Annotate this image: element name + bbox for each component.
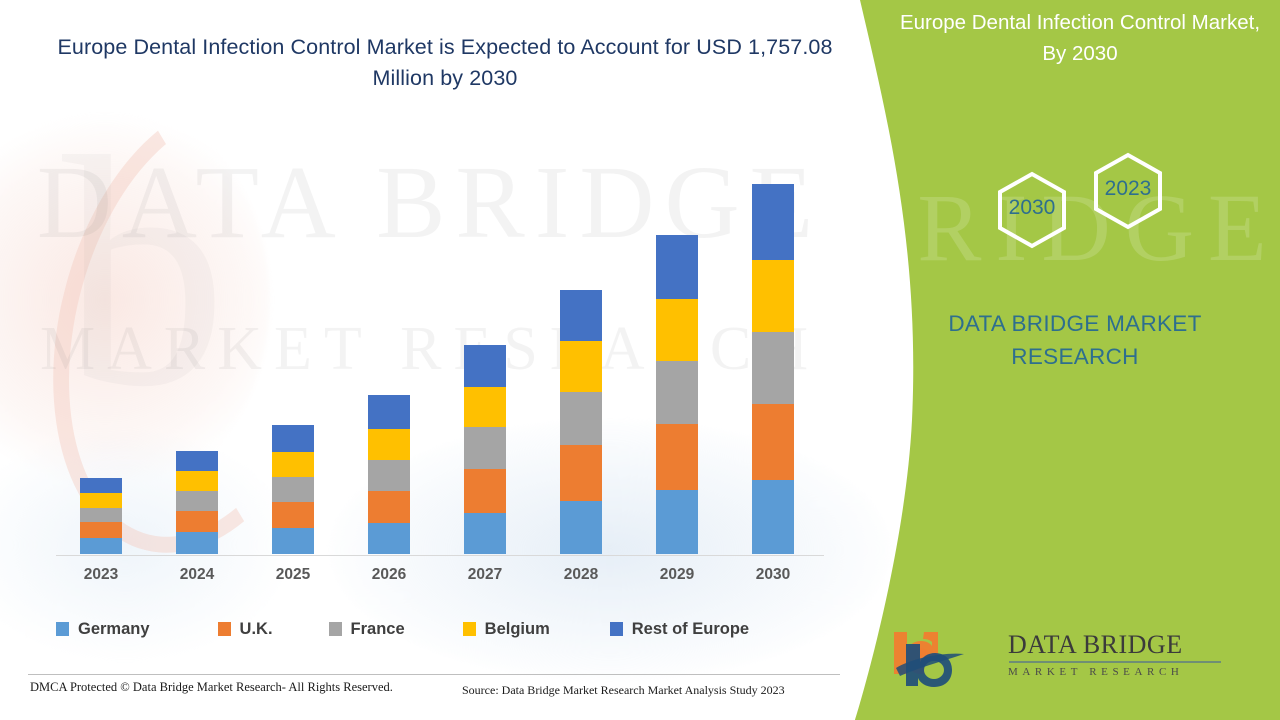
footer-divider <box>28 674 840 675</box>
x-axis-label-2023: 2023 <box>61 566 141 584</box>
bar-segment-rest-of-europe <box>80 478 122 493</box>
x-axis-label-2030: 2030 <box>733 566 813 584</box>
legend-swatch-icon <box>463 622 476 636</box>
bar-segment-france <box>80 508 122 522</box>
copyright-notice: DMCA Protected © Data Bridge Market Rese… <box>30 680 393 695</box>
legend-label: Germany <box>78 620 150 639</box>
legend-item-u-k[interactable]: U.K. <box>218 620 273 639</box>
bar-segment-belgium <box>464 387 506 427</box>
legend-label: U.K. <box>240 620 273 639</box>
bar-segment-germany <box>368 523 410 554</box>
bar-segment-rest-of-europe <box>560 290 602 341</box>
logo-sub-text: MARKET RESEARCH <box>1008 667 1221 678</box>
bar-segment-rest-of-europe <box>176 451 218 471</box>
bar-segment-belgium <box>656 299 698 361</box>
bar-column-2029 <box>656 235 698 554</box>
x-axis-label-2027: 2027 <box>445 566 525 584</box>
x-axis-label-2026: 2026 <box>349 566 429 584</box>
logo-divider <box>1009 661 1221 663</box>
bar-segment-germany <box>752 480 794 554</box>
legend-swatch-icon <box>610 622 623 636</box>
bar-segment-france <box>272 477 314 502</box>
source-note: Source: Data Bridge Market Research Mark… <box>462 683 785 698</box>
bar-segment-u-k <box>80 522 122 538</box>
legend-item-belgium[interactable]: Belgium <box>463 620 550 639</box>
legend-item-germany[interactable]: Germany <box>56 620 150 639</box>
bar-segment-germany <box>560 501 602 554</box>
bar-segment-belgium <box>752 260 794 332</box>
x-axis-label-2029: 2029 <box>637 566 717 584</box>
legend-swatch-icon <box>329 622 342 636</box>
bar-segment-u-k <box>272 502 314 528</box>
bar-column-2024 <box>176 451 218 554</box>
bar-segment-rest-of-europe <box>656 235 698 299</box>
infographic-canvas: b DATA BRIDGE MARKET RESEARCH Europe Den… <box>0 0 1280 720</box>
logo-wordmark: DATA BRIDGE MARKET RESEARCH <box>1008 632 1221 678</box>
bar-segment-u-k <box>752 404 794 480</box>
panel-brand-text: DATA BRIDGE MARKET RESEARCH <box>900 308 1250 373</box>
bar-segment-germany <box>80 538 122 554</box>
legend-swatch-icon <box>218 622 231 636</box>
legend-label: Rest of Europe <box>632 620 749 639</box>
bar-column-2026 <box>368 395 410 554</box>
bar-segment-u-k <box>368 491 410 523</box>
chart-legend: GermanyU.K.FranceBelgiumRest of Europe <box>56 615 826 643</box>
bar-segment-france <box>176 491 218 511</box>
logo-main-text: DATA BRIDGE <box>1008 632 1221 658</box>
bar-column-2030 <box>752 184 794 554</box>
x-axis-labels: 20232024202520262027202820292030 <box>56 566 824 592</box>
bar-segment-rest-of-europe <box>272 425 314 452</box>
green-panel-content: BRIDGE Europe Dental Infection Control M… <box>860 0 1280 720</box>
logo-mark-icon <box>890 628 1002 690</box>
legend-label: Belgium <box>485 620 550 639</box>
bar-segment-germany <box>176 532 218 554</box>
hexagon-group: 2023 2030 <box>860 130 1280 290</box>
legend-item-france[interactable]: France <box>329 620 405 639</box>
bar-segment-u-k <box>464 469 506 513</box>
stacked-bar-chart <box>56 150 824 556</box>
bar-column-2028 <box>560 290 602 554</box>
bar-column-2027 <box>464 345 506 554</box>
legend-swatch-icon <box>56 622 69 636</box>
bar-segment-germany <box>656 490 698 554</box>
legend-item-rest-of-europe[interactable]: Rest of Europe <box>610 620 749 639</box>
bar-segment-belgium <box>176 471 218 491</box>
bar-segment-germany <box>464 513 506 554</box>
bar-segment-france <box>464 427 506 469</box>
bar-segment-belgium <box>272 452 314 477</box>
x-axis-label-2028: 2028 <box>541 566 621 584</box>
page-title: Europe Dental Infection Control Market i… <box>40 32 850 94</box>
panel-title: Europe Dental Infection Control Market, … <box>895 8 1265 70</box>
bar-segment-france <box>656 361 698 424</box>
bar-segment-germany <box>272 528 314 554</box>
hexagon-2030-label: 2030 <box>987 196 1077 220</box>
bar-segment-belgium <box>560 341 602 392</box>
bar-segment-belgium <box>368 429 410 460</box>
hexagon-2023-label: 2023 <box>1083 177 1173 201</box>
data-bridge-logo: DATA BRIDGE MARKET RESEARCH <box>890 628 1250 690</box>
bar-column-2025 <box>272 425 314 554</box>
bar-segment-france <box>560 392 602 445</box>
bar-segment-france <box>368 460 410 491</box>
bar-segment-rest-of-europe <box>752 184 794 260</box>
bar-segment-belgium <box>80 493 122 508</box>
bar-segment-france <box>752 332 794 404</box>
legend-label: France <box>351 620 405 639</box>
bar-segment-rest-of-europe <box>464 345 506 387</box>
bar-segment-rest-of-europe <box>368 395 410 429</box>
bar-segment-u-k <box>656 424 698 490</box>
bar-column-2023 <box>80 478 122 554</box>
x-axis-line <box>56 555 824 556</box>
x-axis-label-2025: 2025 <box>253 566 333 584</box>
chart-plot-area <box>56 150 824 555</box>
bar-segment-u-k <box>176 511 218 532</box>
bar-segment-u-k <box>560 445 602 501</box>
x-axis-label-2024: 2024 <box>157 566 237 584</box>
